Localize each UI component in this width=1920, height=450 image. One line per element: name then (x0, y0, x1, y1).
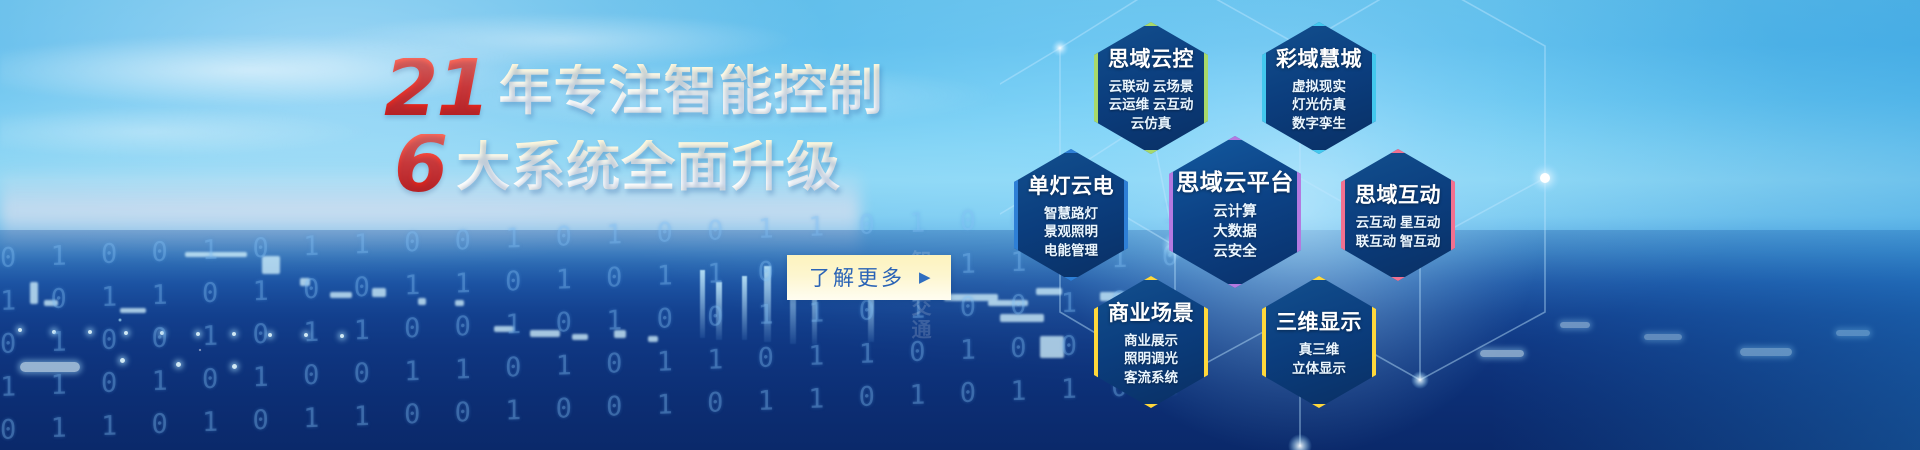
learn-more-label: 了解更多 (809, 262, 905, 292)
hexagon-subline-3: 云仿真 (1108, 115, 1194, 134)
hexagon-content: 思域云控 云联动 云场景 云运维 云互动 云仿真 (1102, 43, 1200, 134)
headline-line-1: 21 年专注智能控制 (384, 58, 960, 122)
hexagon-subline-2: 云运维 云互动 (1108, 96, 1194, 115)
hexagon-subline-3: 电能管理 (1028, 242, 1114, 261)
headline-line-2-number: 6 (394, 134, 456, 198)
hexagon-subline-1: 云计算 (1176, 202, 1294, 222)
hexagon-subline-1: 虚拟现实 (1276, 78, 1362, 97)
hexagon-subline-2: 立体显示 (1276, 360, 1362, 379)
hexagon-subline-2: 大数据 (1176, 222, 1294, 242)
hexagon-subline-3: 客流系统 (1108, 369, 1194, 388)
hexagon-title: 思域云平台 (1176, 163, 1294, 197)
headline-line-2-text: 大系统全面升级 (456, 140, 841, 198)
hexagon-content: 彩域慧城 虚拟现实 灯光仿真 数字孪生 (1270, 43, 1368, 134)
hexagon-subline-3: 云安全 (1176, 242, 1294, 262)
hexagon-content: 三维显示 真三维 立体显示 (1270, 306, 1368, 378)
hexagon-title: 商业场景 (1108, 297, 1194, 327)
hexagon-content: 商业场景 商业展示 照明调光 客流系统 (1102, 297, 1200, 388)
hexagon-content: 思域云平台 云计算 大数据 云安全 (1170, 163, 1300, 262)
hexagon-network: 思域云控 云联动 云场景 云运维 云互动 云仿真 彩域慧城 虚拟现实 灯光仿真 … (1000, 0, 1560, 450)
play-arrow-icon: ▶ (919, 270, 931, 285)
hexagon-subline-1: 商业展示 (1108, 332, 1194, 351)
headline-block: 21 年专注智能控制 6 大系统全面升级 (300, 58, 960, 198)
headline-line-1-number: 21 (384, 58, 499, 122)
hexagon-subline-1: 云互动 星互动 (1355, 214, 1441, 233)
learn-more-button[interactable]: 了解更多 ▶ (787, 255, 951, 300)
hexagon-content: 思域互动 云互动 星互动 联互动 智互动 (1349, 179, 1447, 251)
headline-line-2: 6 大系统全面升级 (394, 134, 960, 198)
hexagon-subline-3: 数字孪生 (1276, 115, 1362, 134)
hexagon-content: 单灯云电 智慧路灯 景观照明 电能管理 (1022, 170, 1120, 261)
hexagon-subline-1: 智慧路灯 (1028, 205, 1114, 224)
promo-banner: 0 1 0 0 1 0 1 1 0 0 1 0 1 0 0 1 1 0 1 0 … (0, 0, 1920, 450)
hexagon-subline-2: 联互动 智互动 (1355, 233, 1441, 252)
hexagon-title: 思域云控 (1108, 43, 1194, 73)
hexagon-subline-2: 景观照明 (1028, 223, 1114, 242)
hexagon-subline-1: 真三维 (1276, 341, 1362, 360)
headline-line-1-text: 年专注智能控制 (499, 64, 884, 122)
hexagon-title: 单灯云电 (1028, 170, 1114, 200)
hexagon-subline-2: 灯光仿真 (1276, 96, 1362, 115)
hexagon-title: 三维显示 (1276, 306, 1362, 336)
hexagon-title: 彩域慧城 (1276, 43, 1362, 73)
hexagon-title: 思域互动 (1355, 179, 1441, 209)
hexagon-subline-1: 云联动 云场景 (1108, 78, 1194, 97)
hexagon-subline-2: 照明调光 (1108, 350, 1194, 369)
